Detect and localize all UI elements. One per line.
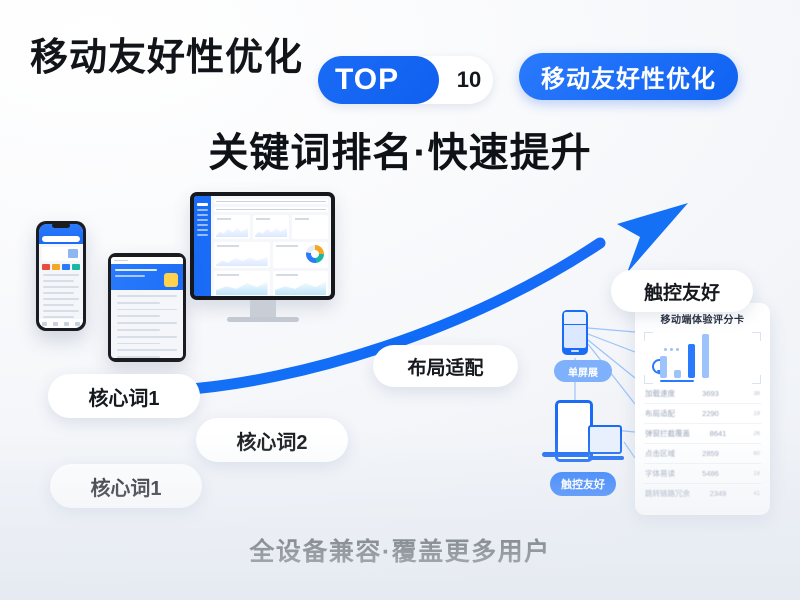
scorecard-table: 加载速度 3693 38 布局适配 2290 19 弹窗拦截覆盖 8641 26…	[644, 384, 761, 503]
row-label: 字体易读	[645, 468, 675, 479]
scorecard-chart	[644, 332, 761, 384]
phone-tabbar[interactable]	[39, 319, 83, 328]
phone-notch	[52, 223, 70, 228]
row-value: 5486	[702, 469, 719, 478]
row-label: 跳转链路冗余	[645, 488, 690, 499]
dashboard-line-chart	[214, 242, 270, 268]
dashboard-card	[253, 215, 289, 239]
tag-pill[interactable]: 移动友好性优化	[519, 53, 738, 100]
tablet-list	[111, 295, 183, 358]
diagram-device-base	[542, 452, 590, 457]
phone-result-list	[39, 274, 83, 318]
table-row: 跳转链路冗余 2349 41	[644, 484, 761, 503]
dashboard-toolbar	[214, 207, 328, 212]
diagram-chip-touch-friendly[interactable]: 触控友好	[550, 472, 616, 496]
row-label: 布局适配	[645, 408, 675, 419]
row-pct: 38	[746, 391, 760, 397]
diagram-phone-icon	[562, 310, 588, 355]
tablet-screen	[111, 257, 183, 358]
row-value: 2349	[710, 489, 727, 498]
dashboard-searchbar	[214, 199, 328, 204]
dashboard-area-chart	[273, 271, 329, 296]
row-label: 加载速度	[645, 388, 675, 399]
row-value: 2859	[702, 449, 719, 458]
row-label: 弹窗拦截覆盖	[645, 428, 690, 439]
phone-quick-icons	[42, 264, 80, 270]
table-row: 字体易读 5486 18	[644, 464, 761, 484]
tablet-hero-banner	[111, 264, 183, 290]
dashboard-cards-row-1	[214, 215, 328, 239]
dashboard-card	[292, 215, 328, 239]
diagram-laptop-icon	[588, 425, 624, 459]
top-rank-badge: TOP 10	[318, 56, 493, 104]
phone-device	[36, 221, 86, 331]
dashboard-main	[211, 196, 331, 296]
dashboard-card	[214, 215, 250, 239]
keyword-pill-touch[interactable]: 触控友好	[611, 270, 753, 312]
top-badge-label: TOP	[335, 63, 399, 97]
top-badge-rank: 10	[449, 60, 489, 100]
row-pct: 26	[746, 431, 760, 437]
dashboard-ui	[194, 196, 331, 296]
scorecard-title: 移动端体验评分卡	[644, 311, 761, 326]
top-badge-pill: TOP	[318, 56, 439, 104]
keyword-pill-3[interactable]: 核心词1	[50, 464, 202, 508]
row-value: 8641	[710, 429, 727, 438]
keyword-pill-1[interactable]: 核心词1	[48, 374, 200, 418]
dashboard-sidebar	[194, 196, 211, 296]
dashboard-cards-row-3	[214, 271, 328, 296]
page-subtitle: 关键词排名·快速提升	[0, 120, 800, 178]
dashboard-area-chart	[214, 271, 270, 296]
phone-screen	[39, 224, 83, 328]
tablet-statusbar	[111, 257, 183, 264]
table-row: 布局适配 2290 19	[644, 404, 761, 424]
chart-bars	[660, 334, 747, 378]
mobile-experience-diagram: 单屏展 触控友好 移动端体验评分卡	[540, 300, 775, 520]
footer-tagline: 全设备兼容·覆盖更多用户	[0, 532, 800, 568]
row-value: 2290	[702, 409, 719, 418]
row-label: 点击区域	[645, 448, 675, 459]
desktop-monitor	[190, 192, 335, 322]
row-pct: 18	[746, 471, 760, 477]
row-pct: 41	[746, 491, 760, 497]
monitor-base	[227, 317, 299, 322]
table-row: 加载速度 3693 38	[644, 384, 761, 404]
table-row: 点击区域 2859 60	[644, 444, 761, 464]
diagram-chip-single-screen[interactable]: 单屏展	[554, 360, 612, 382]
phone-search-bar[interactable]	[42, 236, 80, 242]
row-pct: 60	[746, 451, 760, 457]
monitor-neck	[250, 300, 276, 317]
row-pct: 19	[746, 411, 760, 417]
keyword-pill-2[interactable]: 核心词2	[196, 418, 348, 462]
poster-canvas: 移动友好性优化 TOP 10 移动友好性优化 关键词排名·快速提升	[0, 0, 800, 600]
phone-feature-card	[42, 247, 80, 261]
experience-scorecard: 移动端体验评分卡 加载速度 3693 38	[635, 303, 770, 515]
device-mockups	[22, 192, 337, 392]
page-title: 移动友好性优化	[30, 26, 303, 81]
row-value: 3693	[702, 389, 719, 398]
dashboard-cards-row-2	[214, 242, 328, 268]
table-row: 弹窗拦截覆盖 8641 26	[644, 424, 761, 444]
dashboard-donut-chart	[273, 242, 329, 268]
monitor-screen	[190, 192, 335, 300]
tablet-device	[108, 253, 186, 362]
keyword-pill-layout[interactable]: 布局适配	[373, 345, 518, 387]
